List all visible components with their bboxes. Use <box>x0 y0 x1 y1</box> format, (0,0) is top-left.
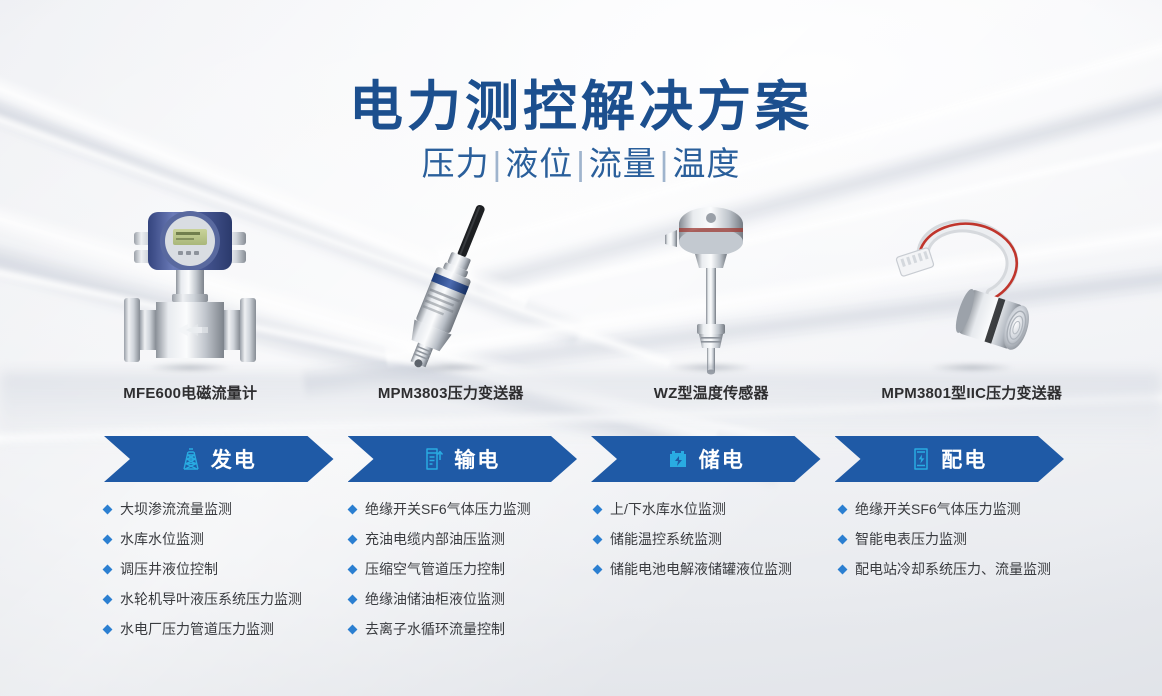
list-item-label: 储能温控系统监测 <box>610 530 722 548</box>
flow-stage-label: 输电 <box>454 444 500 474</box>
bullet-diamond-icon <box>103 565 113 575</box>
list-item: 水轮机导叶液压系统压力监测 <box>104 590 349 608</box>
product-row: MFE600电磁流量计 <box>60 188 1102 403</box>
product-shadow <box>392 361 510 374</box>
temperature-sensor-image <box>611 198 811 376</box>
product-card-pressure-transmitter[interactable]: MPM3803压力变送器 <box>321 188 582 403</box>
list-item: 绝缘油储油柜液位监测 <box>349 590 594 608</box>
subtitle-separator: | <box>657 145 673 182</box>
stage-detail-columns: 大坝渗流流量监测 水库水位监测 调压井液位控制 水轮机导叶液压系统压力监测 水电… <box>104 500 1084 650</box>
pressure-transmitter-image <box>351 198 551 376</box>
list-item-label: 水电厂压力管道压力监测 <box>120 620 274 638</box>
list-item: 智能电表压力监测 <box>839 530 1084 548</box>
list-item: 绝缘开关SF6气体压力监测 <box>839 500 1084 518</box>
flow-meter-image <box>90 198 290 376</box>
product-caption: MFE600电磁流量计 <box>123 382 257 403</box>
list-item: 压缩空气管道压力控制 <box>349 560 594 578</box>
bullet-diamond-icon <box>593 505 603 515</box>
product-caption: WZ型温度传感器 <box>654 382 769 403</box>
list-item: 储能温控系统监测 <box>594 530 839 548</box>
product-shadow <box>652 361 770 374</box>
list-item: 调压井液位控制 <box>104 560 349 578</box>
stage-column-storage: 上/下水库水位监测 储能温控系统监测 储能电池电解液储罐液位监测 <box>594 500 839 650</box>
solution-banner-page: 电力测控解决方案 压力|液位|流量|温度 <box>0 0 1162 696</box>
list-item-label: 储能电池电解液储罐液位监测 <box>610 560 792 578</box>
list-item-label: 绝缘油储油柜液位监测 <box>365 590 505 608</box>
flow-stage-label: 储电 <box>699 444 745 474</box>
product-shadow <box>913 361 1031 374</box>
bullet-diamond-icon <box>348 535 358 545</box>
subtitle-part-level: 液位 <box>505 145 573 182</box>
transmission-tower-icon <box>181 447 201 471</box>
product-card-temperature-sensor[interactable]: WZ型温度传感器 <box>581 188 842 403</box>
list-item: 充油电缆内部油压监测 <box>349 530 594 548</box>
list-item-label: 绝缘开关SF6气体压力监测 <box>855 500 1021 518</box>
stage-column-generation: 大坝渗流流量监测 水库水位监测 调压井液位控制 水轮机导叶液压系统压力监测 水电… <box>104 500 349 650</box>
stage-column-transmission: 绝缘开关SF6气体压力监测 充油电缆内部油压监测 压缩空气管道压力控制 绝缘油储… <box>349 500 594 650</box>
list-item: 绝缘开关SF6气体压力监测 <box>349 500 594 518</box>
flow-stage-storage[interactable]: 储电 <box>591 436 821 482</box>
subtitle-part-flow: 流量 <box>589 145 657 182</box>
page-subtitle: 压力|液位|流量|温度 <box>0 137 1162 185</box>
bullet-diamond-icon <box>838 535 848 545</box>
subtitle-separator: | <box>490 145 506 182</box>
bullet-diamond-icon <box>348 505 358 515</box>
product-caption: MPM3801型IIC压力变送器 <box>881 382 1062 403</box>
iic-pressure-transmitter-image <box>872 198 1072 376</box>
list-item-label: 去离子水循环流量控制 <box>365 620 505 638</box>
list-item: 大坝渗流流量监测 <box>104 500 349 518</box>
bullet-diamond-icon <box>348 595 358 605</box>
bullet-diamond-icon <box>593 565 603 575</box>
flow-stage-generation[interactable]: 发电 <box>104 436 334 482</box>
product-card-iic-pressure-transmitter[interactable]: MPM3801型IIC压力变送器 <box>842 188 1103 403</box>
bullet-diamond-icon <box>103 505 113 515</box>
list-item-label: 充油电缆内部油压监测 <box>365 530 505 548</box>
list-item-label: 配电站冷却系统压力、流量监测 <box>855 560 1051 578</box>
flow-stage-label: 配电 <box>941 444 987 474</box>
bullet-diamond-icon <box>348 625 358 635</box>
distribution-box-icon <box>911 447 931 471</box>
bullet-diamond-icon <box>103 535 113 545</box>
bullet-diamond-icon <box>838 505 848 515</box>
subtitle-part-temperature: 温度 <box>672 145 740 182</box>
subtitle-separator: | <box>573 145 589 182</box>
list-item: 水电厂压力管道压力监测 <box>104 620 349 638</box>
bullet-diamond-icon <box>103 625 113 635</box>
list-item: 上/下水库水位监测 <box>594 500 839 518</box>
product-card-flow-meter[interactable]: MFE600电磁流量计 <box>60 188 321 403</box>
list-item: 水库水位监测 <box>104 530 349 548</box>
product-caption: MPM3803压力变送器 <box>378 382 524 403</box>
list-item: 去离子水循环流量控制 <box>349 620 594 638</box>
list-item: 储能电池电解液储罐液位监测 <box>594 560 839 578</box>
page-title: 电力测控解决方案 <box>0 62 1162 141</box>
flow-stage-distribution[interactable]: 配电 <box>835 436 1065 482</box>
bullet-diamond-icon <box>593 535 603 545</box>
process-flow-bar: 发电 输电 <box>104 436 1064 482</box>
flow-stage-transmission[interactable]: 输电 <box>348 436 578 482</box>
flow-stage-label: 发电 <box>211 444 257 474</box>
cable-transmission-icon <box>424 447 444 471</box>
battery-storage-icon <box>667 448 689 470</box>
bullet-diamond-icon <box>838 565 848 575</box>
bullet-diamond-icon <box>103 595 113 605</box>
list-item-label: 水库水位监测 <box>120 530 204 548</box>
list-item: 配电站冷却系统压力、流量监测 <box>839 560 1084 578</box>
subtitle-part-pressure: 压力 <box>422 145 490 182</box>
list-item-label: 调压井液位控制 <box>120 560 218 578</box>
stage-column-distribution: 绝缘开关SF6气体压力监测 智能电表压力监测 配电站冷却系统压力、流量监测 <box>839 500 1084 650</box>
list-item-label: 压缩空气管道压力控制 <box>365 560 505 578</box>
product-shadow <box>131 361 249 374</box>
list-item-label: 智能电表压力监测 <box>855 530 967 548</box>
list-item-label: 水轮机导叶液压系统压力监测 <box>120 590 302 608</box>
list-item-label: 上/下水库水位监测 <box>610 500 726 518</box>
list-item-label: 绝缘开关SF6气体压力监测 <box>365 500 531 518</box>
list-item-label: 大坝渗流流量监测 <box>120 500 232 518</box>
bullet-diamond-icon <box>348 565 358 575</box>
